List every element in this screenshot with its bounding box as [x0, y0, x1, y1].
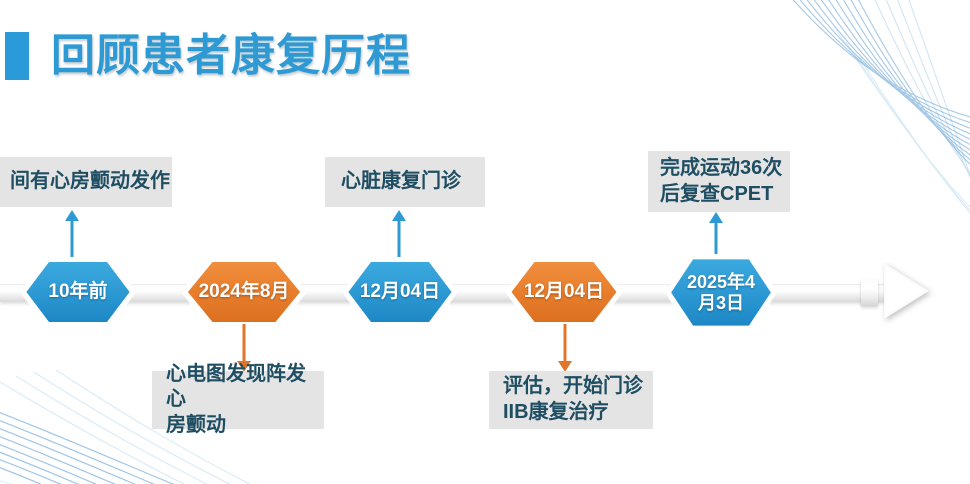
callout-text-5: 完成运动36次 后复查CPET — [660, 156, 782, 207]
hexagon-label-1: 10年前 — [48, 281, 107, 302]
timeline-rail-cap — [861, 279, 878, 306]
timeline-node-4[interactable]: 12月04日 — [505, 257, 623, 327]
hexagon-label-5: 2025年4 月3日 — [687, 272, 755, 312]
connector-arrow-stem-4 — [564, 324, 567, 363]
hexagon-outline-1: 10年前 — [20, 257, 136, 327]
hexagon-label-3: 12月04日 — [360, 281, 440, 302]
callout-box-3: 心脏康复门诊 — [325, 157, 485, 207]
callout-text-2: 心电图发现阵发心 房颤动 — [166, 362, 324, 439]
callout-text-4: 评估，开始门诊 IIB康复治疗 — [503, 374, 643, 425]
callout-text-3: 心脏康复门诊 — [341, 169, 461, 195]
hexagon-label-4: 12月04日 — [524, 281, 604, 302]
timeline-arrow-inner-icon — [886, 267, 925, 315]
title-bullet-square — [5, 32, 29, 80]
hexagon-outline-3: 12月04日 — [342, 257, 458, 327]
callout-text-1: 间有心房颤动发作 — [10, 169, 170, 195]
page-title: 回顾患者康复历程 — [0, 28, 411, 84]
slide-canvas: 回顾患者康复历程 间有心房颤动发作 10年前 2024年8月 心电图发现阵发心 … — [0, 0, 970, 484]
timeline-node-2[interactable]: 2024年8月 — [181, 257, 307, 327]
hexagon-fill-4: 12月04日 — [511, 262, 616, 322]
hexagon-fill-5: 2025年4 月3日 — [671, 259, 771, 325]
timeline-node-3[interactable]: 12月04日 — [342, 257, 458, 327]
timeline-node-1[interactable]: 10年前 — [20, 257, 136, 327]
hexagon-label-2: 2024年8月 — [199, 281, 290, 302]
connector-arrow-stem-1 — [71, 219, 74, 262]
callout-box-1: 间有心房颤动发作 — [0, 157, 172, 207]
hexagon-fill-1: 10年前 — [26, 262, 129, 322]
hexagon-fill-2: 2024年8月 — [188, 262, 300, 322]
connector-arrow-stem-2 — [243, 324, 246, 363]
hexagon-fill-3: 12月04日 — [348, 262, 451, 322]
connector-arrow-stem-3 — [398, 219, 401, 262]
connector-arrow-5 — [708, 212, 724, 260]
connector-arrow-3 — [391, 210, 407, 262]
connector-arrow-4 — [557, 324, 573, 372]
callout-box-2: 心电图发现阵发心 房颤动 — [152, 371, 324, 429]
connector-arrow-1 — [64, 210, 80, 262]
callout-box-4: 评估，开始门诊 IIB康复治疗 — [489, 371, 653, 429]
callout-box-5: 完成运动36次 后复查CPET — [648, 151, 790, 212]
hexagon-outline-4: 12月04日 — [505, 257, 623, 327]
hexagon-outline-5: 2025年4 月3日 — [665, 254, 777, 331]
timeline-node-5[interactable]: 2025年4 月3日 — [665, 254, 777, 331]
title-text: 回顾患者康复历程 — [51, 34, 411, 78]
hexagon-outline-2: 2024年8月 — [181, 257, 307, 327]
